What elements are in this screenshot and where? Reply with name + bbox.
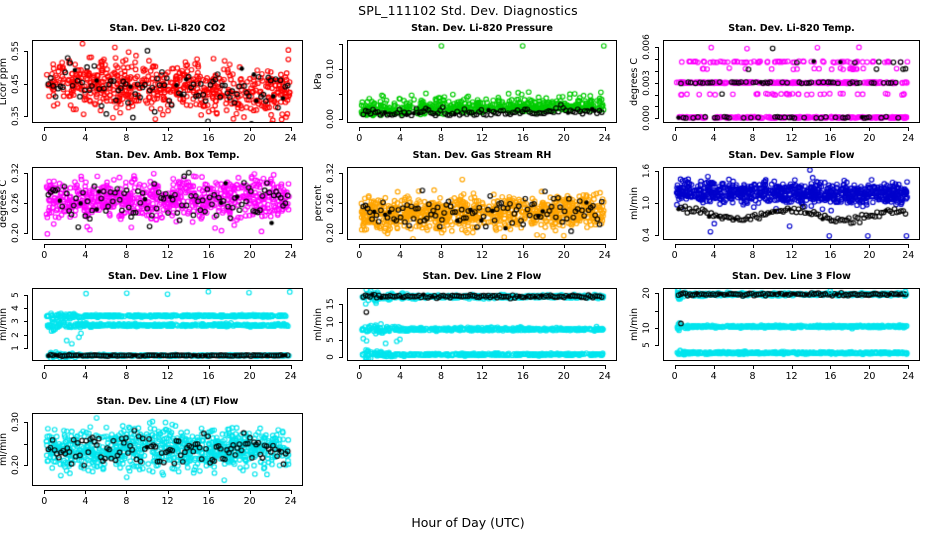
xtick-3-0 xyxy=(675,127,676,131)
ytick-4-0.2 xyxy=(24,233,28,234)
yaxis-label-7: ml/min xyxy=(0,288,10,361)
xtick-label-1-20: 20 xyxy=(244,133,256,144)
panel-6: Stan. Dev. Sample Flow048121620240.41.01… xyxy=(629,150,926,263)
xtick-10-16 xyxy=(209,490,210,494)
xtick-label-8-0: 0 xyxy=(356,371,362,382)
xtick-label-9-12: 12 xyxy=(785,371,797,382)
xtick-label-2-8: 8 xyxy=(438,133,444,144)
xtick-2-4 xyxy=(400,127,401,131)
xtick-9-8 xyxy=(753,365,754,369)
xtick-label-5-12: 12 xyxy=(476,250,488,261)
scatter-points-1 xyxy=(33,41,302,122)
xtick-1-20 xyxy=(250,127,251,131)
xtick-label-4-8: 8 xyxy=(123,250,129,261)
plot-area-6[interactable] xyxy=(663,167,920,240)
ytick-2-0.15 xyxy=(339,44,343,45)
yaxis-label-2: kPa xyxy=(311,40,325,123)
panel-9: Stan. Dev. Line 3 Flow0481216202451020ml… xyxy=(629,271,926,384)
xtick-2-16 xyxy=(523,127,524,131)
xtick-label-1-8: 8 xyxy=(123,133,129,144)
ytick-label-7-3: 3 xyxy=(11,319,21,325)
panel-10: Stan. Dev. Line 4 (LT) Flow048121620240.… xyxy=(0,396,309,509)
ytick-9-15 xyxy=(655,311,659,312)
xtick-label-2-20: 20 xyxy=(558,133,570,144)
xtick-10-0 xyxy=(44,490,45,494)
xtick-4-8 xyxy=(126,244,127,248)
xtick-label-2-4: 4 xyxy=(397,133,403,144)
yaxis-label-text-10: ml/min xyxy=(0,433,9,466)
xtick-label-5-16: 16 xyxy=(517,250,529,261)
xtick-2-20 xyxy=(564,127,565,131)
plot-area-1[interactable] xyxy=(32,40,303,123)
scatter-points-10 xyxy=(33,414,302,485)
ytick-8-15 xyxy=(339,304,343,305)
ytick-label-9-10: 10 xyxy=(642,322,652,333)
scatter-points-3 xyxy=(664,41,919,122)
ytick-4-0.26 xyxy=(24,203,28,204)
scatter-points-6 xyxy=(664,168,919,239)
ytick-2-0 xyxy=(339,119,343,120)
xtick-label-6-4: 4 xyxy=(711,250,717,261)
yaxis-label-text-2: kPa xyxy=(313,73,324,90)
ytick-7-1 xyxy=(24,348,28,349)
xtick-label-7-4: 4 xyxy=(82,371,88,382)
yaxis-label-8: ml/min xyxy=(311,288,325,361)
xtick-label-7-20: 20 xyxy=(244,371,256,382)
xtick-1-8 xyxy=(126,127,127,131)
panel-1: Stan. Dev. Li-820 CO2048121620240.350.45… xyxy=(0,23,309,146)
xtick-10-24 xyxy=(291,490,292,494)
ytick-3-0.003 xyxy=(655,83,659,84)
ytick-3-0.004 xyxy=(655,71,659,72)
ytick-7-3 xyxy=(24,321,28,322)
xtick-label-3-0: 0 xyxy=(672,133,678,144)
xtick-8-16 xyxy=(523,365,524,369)
panel-2: Stan. Dev. Li-820 Pressure048121620240.0… xyxy=(313,23,623,146)
ytick-4-0.32 xyxy=(24,173,28,174)
yaxis-line-2 xyxy=(342,44,343,119)
xtick-label-2-24: 24 xyxy=(599,133,611,144)
panel-title-9: Stan. Dev. Line 3 Flow xyxy=(663,271,920,282)
xtick-1-16 xyxy=(209,127,210,131)
ytick-1-0.45 xyxy=(24,84,28,85)
ytick-label-10-0.3: 0.30 xyxy=(11,412,21,432)
xtick-label-10-12: 12 xyxy=(161,496,173,507)
xtick-label-2-12: 12 xyxy=(476,133,488,144)
xtick-label-9-24: 24 xyxy=(902,371,914,382)
plot-area-2[interactable] xyxy=(347,40,617,123)
yaxis-label-text-7: ml/min xyxy=(0,308,9,341)
xtick-6-4 xyxy=(714,244,715,248)
xtick-5-24 xyxy=(605,244,606,248)
yaxis-label-6: ml/min xyxy=(627,167,641,240)
ytick-label-3-0: 0.000 xyxy=(642,105,652,131)
figure-title: SPL_111102 Std. Dev. Diagnostics xyxy=(0,3,936,18)
plot-area-3[interactable] xyxy=(663,40,920,123)
xtick-8-20 xyxy=(564,365,565,369)
xtick-5-12 xyxy=(482,244,483,248)
xtick-label-4-4: 4 xyxy=(82,250,88,261)
xtick-6-16 xyxy=(830,244,831,248)
panel-title-8: Stan. Dev. Line 2 Flow xyxy=(347,271,617,282)
ytick-label-1-0.45: 0.45 xyxy=(11,74,21,94)
ytick-2-0.1 xyxy=(339,69,343,70)
panel-title-1: Stan. Dev. Li-820 CO2 xyxy=(32,23,303,34)
xtick-label-5-24: 24 xyxy=(599,250,611,261)
xtick-9-20 xyxy=(869,365,870,369)
xtick-label-6-8: 8 xyxy=(750,250,756,261)
ytick-3-0.006 xyxy=(655,47,659,48)
yaxis-label-1: Licor ppm xyxy=(0,40,10,123)
panel-3: Stan. Dev. Li-820 Temp.048121620240.0000… xyxy=(629,23,926,146)
ytick-label-9-5: 5 xyxy=(642,342,652,348)
plot-area-9[interactable] xyxy=(663,288,920,361)
ytick-7-2 xyxy=(24,335,28,336)
ytick-label-4-0.2: 0.20 xyxy=(11,223,21,243)
xtick-6-12 xyxy=(792,244,793,248)
xtick-label-10-16: 16 xyxy=(203,496,215,507)
yaxis-label-10: ml/min xyxy=(0,413,10,486)
xtick-3-20 xyxy=(869,127,870,131)
xtick-4-4 xyxy=(85,244,86,248)
yaxis-label-text-1: Licor ppm xyxy=(0,58,9,105)
yaxis-label-text-8: ml/min xyxy=(313,308,324,341)
xtick-8-0 xyxy=(359,365,360,369)
ytick-3-0 xyxy=(655,118,659,119)
xtick-label-9-4: 4 xyxy=(711,371,717,382)
yaxis-label-text-3: degrees C xyxy=(629,58,640,106)
xtick-7-20 xyxy=(250,365,251,369)
xtick-4-0 xyxy=(44,244,45,248)
xtick-7-0 xyxy=(44,365,45,369)
xtick-7-12 xyxy=(168,365,169,369)
xtick-5-8 xyxy=(441,244,442,248)
xtick-label-10-24: 24 xyxy=(285,496,297,507)
xtick-9-24 xyxy=(908,365,909,369)
ytick-3-0.002 xyxy=(655,95,659,96)
panel-7: Stan. Dev. Line 1 Flow0481216202412345ml… xyxy=(0,271,309,384)
xtick-7-24 xyxy=(291,365,292,369)
xtick-label-8-8: 8 xyxy=(438,371,444,382)
xtick-label-8-4: 4 xyxy=(397,371,403,382)
yaxis-label-3: degrees C xyxy=(627,40,641,123)
panel-title-10: Stan. Dev. Line 4 (LT) Flow xyxy=(32,396,303,407)
xtick-6-8 xyxy=(753,244,754,248)
xtick-label-1-16: 16 xyxy=(203,133,215,144)
ytick-6-0.4 xyxy=(655,235,659,236)
ytick-label-5-0.32: 0.32 xyxy=(326,163,336,183)
xtick-label-4-16: 16 xyxy=(203,250,215,261)
yaxis-label-text-4: degrees C xyxy=(0,180,9,228)
scatter-points-9 xyxy=(664,289,919,360)
scatter-points-2 xyxy=(348,41,616,122)
xtick-6-20 xyxy=(869,244,870,248)
xtick-1-0 xyxy=(44,127,45,131)
scatter-points-8 xyxy=(348,289,616,360)
ytick-label-5-0.2: 0.20 xyxy=(326,223,336,243)
xtick-label-5-4: 4 xyxy=(397,250,403,261)
xtick-2-12 xyxy=(482,127,483,131)
xtick-2-8 xyxy=(441,127,442,131)
xtick-label-3-12: 12 xyxy=(785,133,797,144)
xtick-label-7-0: 0 xyxy=(41,371,47,382)
ytick-label-7-2: 2 xyxy=(11,332,21,338)
xtick-5-0 xyxy=(359,244,360,248)
xtick-7-16 xyxy=(209,365,210,369)
xtick-1-12 xyxy=(168,127,169,131)
ytick-10-0.2 xyxy=(24,465,28,466)
xtick-5-20 xyxy=(564,244,565,248)
panel-title-2: Stan. Dev. Li-820 Pressure xyxy=(347,23,617,34)
ytick-9-10 xyxy=(655,328,659,329)
xtick-label-4-20: 20 xyxy=(244,250,256,261)
ytick-label-5-0.26: 0.26 xyxy=(326,193,336,213)
xtick-5-4 xyxy=(400,244,401,248)
xtick-label-1-24: 24 xyxy=(285,133,297,144)
ytick-label-8-5: 5 xyxy=(326,337,336,343)
ytick-label-8-15: 15 xyxy=(326,298,336,309)
ytick-3-0.005 xyxy=(655,59,659,60)
yaxis-label-5: percent xyxy=(311,167,325,240)
yaxis-label-4: degrees C xyxy=(0,167,10,240)
xtick-10-8 xyxy=(126,490,127,494)
xtick-7-8 xyxy=(126,365,127,369)
scatter-points-5 xyxy=(348,168,616,239)
ytick-5-0.32 xyxy=(339,173,343,174)
ytick-10-0.25 xyxy=(24,444,28,445)
xtick-label-2-16: 16 xyxy=(517,133,529,144)
xtick-label-3-8: 8 xyxy=(750,133,756,144)
xtick-5-16 xyxy=(523,244,524,248)
ytick-8-0 xyxy=(339,357,343,358)
xtick-label-10-4: 4 xyxy=(82,496,88,507)
xtick-label-6-24: 24 xyxy=(902,250,914,261)
xtick-label-8-16: 16 xyxy=(517,371,529,382)
ytick-10-0.3 xyxy=(24,422,28,423)
xtick-3-8 xyxy=(753,127,754,131)
panel-4: Stan. Dev. Amb. Box Temp.048121620240.20… xyxy=(0,150,309,263)
xtick-label-5-20: 20 xyxy=(558,250,570,261)
panel-5: Stan. Dev. Gas Stream RH048121620240.200… xyxy=(313,150,623,263)
xtick-label-3-24: 24 xyxy=(902,133,914,144)
ytick-9-20 xyxy=(655,293,659,294)
ytick-1-0.55 xyxy=(24,51,28,52)
xtick-label-5-0: 0 xyxy=(356,250,362,261)
xtick-label-7-12: 12 xyxy=(161,371,173,382)
ytick-label-6-1: 1.0 xyxy=(642,196,652,210)
yaxis-line-8 xyxy=(342,304,343,357)
xtick-9-12 xyxy=(792,365,793,369)
xtick-7-4 xyxy=(85,365,86,369)
xtick-3-4 xyxy=(714,127,715,131)
xtick-4-24 xyxy=(291,244,292,248)
xtick-4-20 xyxy=(250,244,251,248)
ytick-label-8-10: 10 xyxy=(326,316,336,327)
xtick-label-9-0: 0 xyxy=(672,371,678,382)
xtick-label-4-24: 24 xyxy=(285,250,297,261)
panel-title-6: Stan. Dev. Sample Flow xyxy=(663,150,920,161)
xtick-8-24 xyxy=(605,365,606,369)
xtick-label-4-12: 12 xyxy=(161,250,173,261)
xtick-label-1-4: 4 xyxy=(82,133,88,144)
ytick-label-2-0.1: 0.10 xyxy=(326,59,336,79)
xtick-1-24 xyxy=(291,127,292,131)
xtick-label-6-20: 20 xyxy=(863,250,875,261)
xtick-label-8-20: 20 xyxy=(558,371,570,382)
ytick-label-1-0.35: 0.35 xyxy=(11,106,21,126)
xtick-label-1-12: 12 xyxy=(161,133,173,144)
ytick-8-5 xyxy=(339,340,343,341)
ytick-label-3-0.003: 0.003 xyxy=(642,70,652,96)
ytick-label-6-1.6: 1.6 xyxy=(642,164,652,178)
plot-area-10[interactable] xyxy=(32,413,303,486)
ytick-label-3-0.006: 0.006 xyxy=(642,34,652,60)
ytick-5-0.26 xyxy=(339,203,343,204)
plot-area-8[interactable] xyxy=(347,288,617,361)
xtick-8-12 xyxy=(482,365,483,369)
ytick-3-0.001 xyxy=(655,106,659,107)
xtick-label-10-0: 0 xyxy=(41,496,47,507)
ytick-label-4-0.32: 0.32 xyxy=(11,163,21,183)
ytick-9-5 xyxy=(655,345,659,346)
xtick-3-16 xyxy=(830,127,831,131)
xtick-label-4-0: 0 xyxy=(41,250,47,261)
ytick-1-0.35 xyxy=(24,116,28,117)
ytick-2-0.05 xyxy=(339,94,343,95)
panel-title-5: Stan. Dev. Gas Stream RH xyxy=(347,150,617,161)
xtick-label-9-8: 8 xyxy=(750,371,756,382)
xtick-4-16 xyxy=(209,244,210,248)
figure-xaxis-label: Hour of Day (UTC) xyxy=(0,515,936,530)
xtick-9-0 xyxy=(675,365,676,369)
scatter-points-4 xyxy=(33,168,302,239)
xtick-label-8-12: 12 xyxy=(476,371,488,382)
yaxis-label-text-5: percent xyxy=(313,185,324,221)
ytick-8-10 xyxy=(339,322,343,323)
ytick-7-4 xyxy=(24,308,28,309)
ytick-6-1.6 xyxy=(655,171,659,172)
ytick-7-5 xyxy=(24,295,28,296)
plot-area-7[interactable] xyxy=(32,288,303,361)
ytick-label-4-0.26: 0.26 xyxy=(11,193,21,213)
xtick-8-8 xyxy=(441,365,442,369)
xtick-label-3-20: 20 xyxy=(863,133,875,144)
xtick-label-10-8: 8 xyxy=(123,496,129,507)
xtick-9-16 xyxy=(830,365,831,369)
ytick-5-0.2 xyxy=(339,233,343,234)
xtick-label-7-16: 16 xyxy=(203,371,215,382)
panel-title-7: Stan. Dev. Line 1 Flow xyxy=(32,271,303,282)
xtick-9-4 xyxy=(714,365,715,369)
plot-area-5[interactable] xyxy=(347,167,617,240)
xtick-label-6-12: 12 xyxy=(785,250,797,261)
xtick-label-5-8: 8 xyxy=(438,250,444,261)
xtick-label-3-16: 16 xyxy=(824,133,836,144)
figure-canvas: SPL_111102 Std. Dev. Diagnostics Stan. D… xyxy=(0,0,936,540)
xtick-2-0 xyxy=(359,127,360,131)
xtick-2-24 xyxy=(605,127,606,131)
ytick-label-9-20: 20 xyxy=(642,287,652,298)
xtick-3-24 xyxy=(908,127,909,131)
plot-area-4[interactable] xyxy=(32,167,303,240)
ytick-label-1-0.55: 0.55 xyxy=(11,41,21,61)
ytick-label-2-0: 0.00 xyxy=(326,109,336,129)
xtick-label-1-0: 0 xyxy=(41,133,47,144)
yaxis-label-text-6: ml/min xyxy=(629,187,640,220)
xtick-label-2-0: 0 xyxy=(356,133,362,144)
panel-title-4: Stan. Dev. Amb. Box Temp. xyxy=(32,150,303,161)
xtick-label-9-20: 20 xyxy=(863,371,875,382)
xtick-10-20 xyxy=(250,490,251,494)
xtick-label-7-8: 8 xyxy=(123,371,129,382)
ytick-label-7-4: 4 xyxy=(11,305,21,311)
xtick-3-12 xyxy=(792,127,793,131)
xtick-1-4 xyxy=(85,127,86,131)
xtick-label-10-20: 20 xyxy=(244,496,256,507)
xtick-4-12 xyxy=(168,244,169,248)
xtick-8-4 xyxy=(400,365,401,369)
scatter-points-7 xyxy=(33,289,302,360)
xtick-10-12 xyxy=(168,490,169,494)
ytick-label-7-5: 5 xyxy=(11,292,21,298)
panel-8: Stan. Dev. Line 2 Flow04812162024051015m… xyxy=(313,271,623,384)
xtick-label-3-4: 4 xyxy=(711,133,717,144)
xtick-6-0 xyxy=(675,244,676,248)
ytick-label-8-0: 0 xyxy=(326,355,336,361)
xtick-10-4 xyxy=(85,490,86,494)
ytick-label-6-0.4: 0.4 xyxy=(642,228,652,242)
xtick-6-24 xyxy=(908,244,909,248)
xtick-label-9-16: 16 xyxy=(824,371,836,382)
yaxis-label-9: ml/min xyxy=(627,288,641,361)
panel-title-3: Stan. Dev. Li-820 Temp. xyxy=(663,23,920,34)
xtick-label-6-16: 16 xyxy=(824,250,836,261)
ytick-6-1 xyxy=(655,203,659,204)
yaxis-label-text-9: ml/min xyxy=(629,308,640,341)
yaxis-line-9 xyxy=(658,293,659,345)
xtick-label-8-24: 24 xyxy=(599,371,611,382)
ytick-label-7-1: 1 xyxy=(11,345,21,351)
xtick-label-6-0: 0 xyxy=(672,250,678,261)
ytick-label-10-0.2: 0.20 xyxy=(11,455,21,475)
xtick-label-7-24: 24 xyxy=(285,371,297,382)
